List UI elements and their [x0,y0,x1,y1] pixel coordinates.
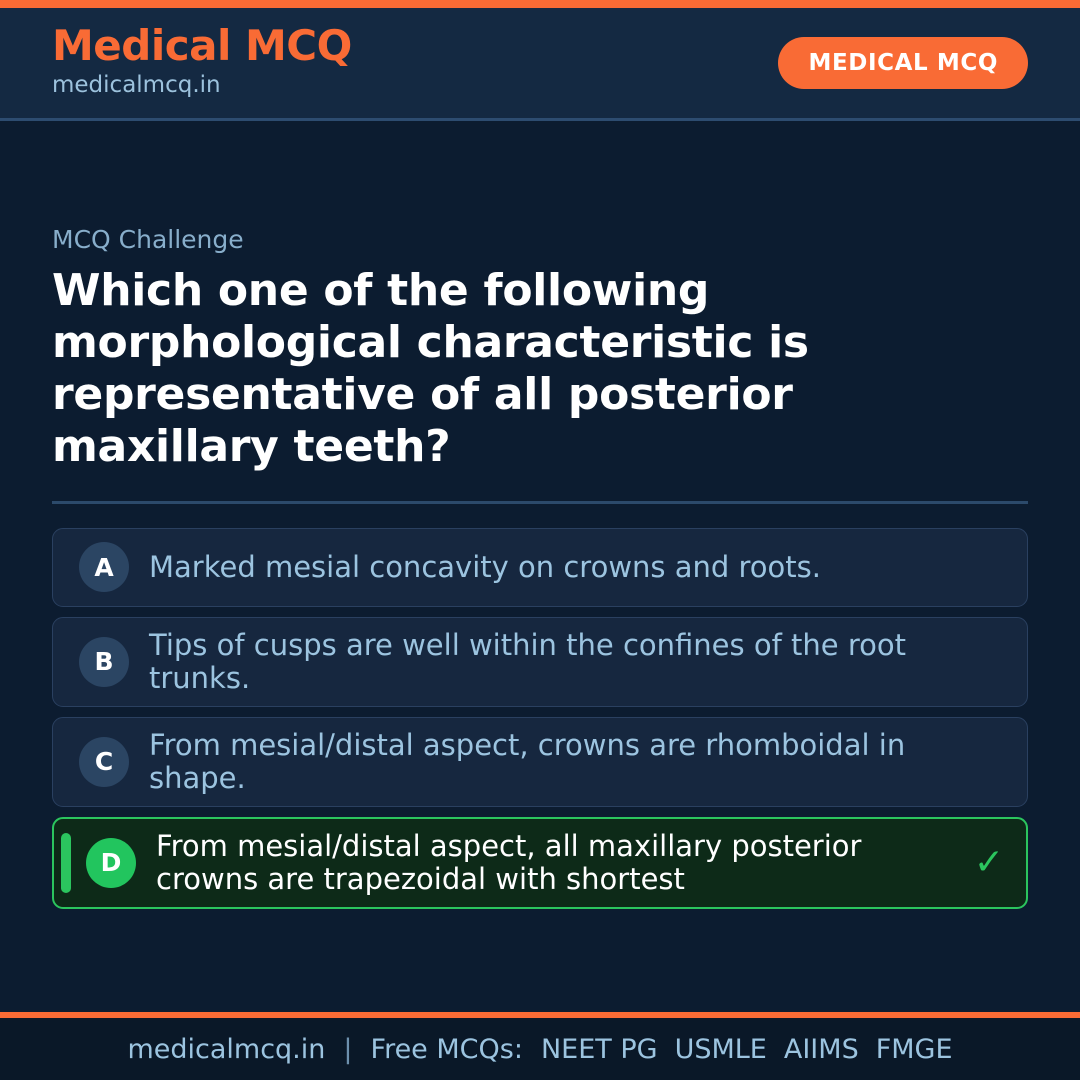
eyebrow-label: MCQ Challenge [52,225,1028,255]
option-letter-badge: C [79,737,129,787]
options-list: A Marked mesial concavity on crowns and … [52,528,1028,909]
brand-subtitle: medicalmcq.in [52,70,352,101]
footer-separator: | [343,1034,352,1065]
option-letter-badge: A [79,542,129,592]
page-header: Medical MCQ medicalmcq.in MEDICAL MCQ [0,8,1080,121]
footer-label: Free MCQs: [371,1034,523,1065]
question-divider [52,501,1028,504]
option-d-correct[interactable]: D From mesial/distal aspect, all maxilla… [52,817,1028,909]
option-text: From mesial/distal aspect, crowns are rh… [149,729,1005,795]
footer-exam-usmle[interactable]: USMLE [675,1034,767,1065]
option-a[interactable]: A Marked mesial concavity on crowns and … [52,528,1028,607]
option-c[interactable]: C From mesial/distal aspect, crowns are … [52,717,1028,807]
footer-site[interactable]: medicalmcq.in [127,1034,325,1065]
page-title: Which one of the following morphological… [52,265,1028,473]
footer-exam-aiims[interactable]: AIIMS [784,1034,859,1065]
brand-block: Medical MCQ medicalmcq.in [52,25,352,101]
option-text: Tips of cusps are well within the confin… [149,629,1005,695]
mcq-card: Medical MCQ medicalmcq.in MEDICAL MCQ MC… [0,0,1080,1080]
check-icon: ✓ [974,845,1004,881]
option-b[interactable]: B Tips of cusps are well within the conf… [52,617,1028,707]
page-footer: medicalmcq.in | Free MCQs: NEET PG USMLE… [0,1012,1080,1080]
option-letter-badge: D [86,838,136,888]
top-accent-bar [0,0,1080,8]
option-letter-badge: B [79,637,129,687]
header-badge[interactable]: MEDICAL MCQ [778,37,1028,89]
option-text: Marked mesial concavity on crowns and ro… [149,551,1005,584]
brand-title: Medical MCQ [52,25,352,68]
footer-exam-fmge[interactable]: FMGE [876,1034,953,1065]
footer-inner: medicalmcq.in | Free MCQs: NEET PG USMLE… [127,1034,952,1065]
option-text: From mesial/distal aspect, all maxillary… [156,830,948,896]
correct-accent-bar [61,833,71,893]
footer-exam-neet-pg[interactable]: NEET PG [541,1034,658,1065]
footer-exam-list: NEET PG USMLE AIIMS FMGE [541,1034,953,1065]
main-content: MCQ Challenge Which one of the following… [0,121,1080,1012]
